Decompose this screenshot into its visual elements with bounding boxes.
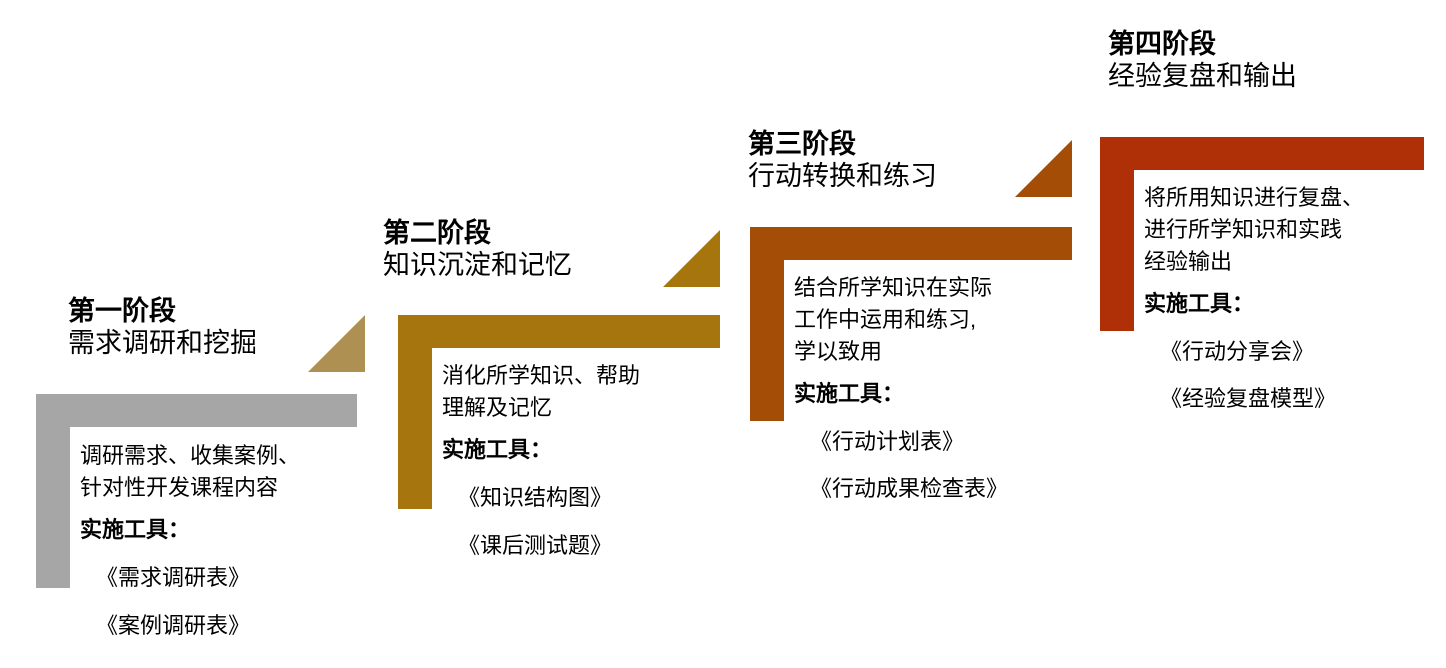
stage-1-body: 调研需求、收集案例、 针对性开发课程内容 实施工具： 《需求调研表》 《案例调研… xyxy=(80,440,300,641)
stage-2-heading-line1: 第二阶段 xyxy=(383,218,572,250)
stage-3-heading: 第三阶段 行动转换和练习 xyxy=(748,129,937,193)
stage-1-tools-label: 实施工具： xyxy=(80,514,300,546)
stage-3-heading-line1: 第三阶段 xyxy=(748,129,937,161)
stage-2-body: 消化所学知识、帮助 理解及记忆 实施工具： 《知识结构图》 《课后测试题》 xyxy=(442,360,640,561)
stage-3-tools-label: 实施工具： xyxy=(794,378,1008,410)
stage-3-desc-line-1: 结合所学知识在实际 xyxy=(794,272,1008,304)
stage-4-bracket-left xyxy=(1100,137,1134,331)
stage-4-bracket-top xyxy=(1100,137,1424,170)
stage-4-tool-item-2: 《经验复盘模型》 xyxy=(1144,383,1364,415)
stage-3-bracket-left xyxy=(750,227,784,421)
stage-3-tool-item-2: 《行动成果检查表》 xyxy=(794,473,1008,505)
stage-4-desc-line-2: 进行所学知识和实践 xyxy=(1144,214,1364,246)
stage-2-heading: 第二阶段 知识沉淀和记忆 xyxy=(383,218,572,282)
stage-1-desc-line-2: 针对性开发课程内容 xyxy=(80,472,300,504)
stage-2-bracket-top xyxy=(398,315,720,348)
stage-4-desc-line-1: 将所用知识进行复盘、 xyxy=(1144,182,1364,214)
stage-3-desc-line-2: 工作中运用和练习, xyxy=(794,304,1008,336)
stage-2-arrow-triangle-icon xyxy=(663,230,720,287)
stage-1-arrow-triangle-icon xyxy=(308,315,365,372)
stage-1-heading-line1: 第一阶段 xyxy=(68,296,257,328)
stage-4-tool-item-1: 《行动分享会》 xyxy=(1144,336,1364,368)
stage-1-tool-item-1: 《需求调研表》 xyxy=(80,562,300,594)
stage-2-heading-line2: 知识沉淀和记忆 xyxy=(383,250,572,282)
stage-2-bracket-left xyxy=(398,315,432,509)
stage-4-heading-line1: 第四阶段 xyxy=(1108,29,1297,61)
stage-1-tool-item-2: 《案例调研表》 xyxy=(80,610,300,642)
stage-3-body: 结合所学知识在实际 工作中运用和练习, 学以致用 实施工具： 《行动计划表》 《… xyxy=(794,272,1008,505)
stage-3-heading-line2: 行动转换和练习 xyxy=(748,161,937,193)
stage-1-heading-line2: 需求调研和挖掘 xyxy=(68,328,257,360)
stage-3-tool-item-1: 《行动计划表》 xyxy=(794,426,1008,458)
stage-4-body: 将所用知识进行复盘、 进行所学知识和实践 经验输出 实施工具： 《行动分享会》 … xyxy=(1144,182,1364,415)
stage-3-arrow-triangle-icon xyxy=(1015,140,1072,197)
stage-4-heading: 第四阶段 经验复盘和输出 xyxy=(1108,29,1297,93)
stage-1-desc-line-1: 调研需求、收集案例、 xyxy=(80,440,300,472)
stage-3-bracket-top xyxy=(750,227,1072,260)
stage-1-heading: 第一阶段 需求调研和挖掘 xyxy=(68,296,257,360)
stage-2-tool-item-1: 《知识结构图》 xyxy=(442,482,640,514)
stage-2-tools-label: 实施工具： xyxy=(442,434,640,466)
stage-2-tool-item-2: 《课后测试题》 xyxy=(442,530,640,562)
stage-2-desc-line-1: 消化所学知识、帮助 xyxy=(442,360,640,392)
stage-4-tools-label: 实施工具： xyxy=(1144,288,1364,320)
stage-1-bracket-left xyxy=(36,394,70,588)
stage-2-desc-line-2: 理解及记忆 xyxy=(442,392,640,424)
stage-4-heading-line2: 经验复盘和输出 xyxy=(1108,61,1297,93)
stage-1-bracket-top xyxy=(36,394,357,427)
stage-3-desc-line-3: 学以致用 xyxy=(794,336,1008,368)
stage-4-desc-line-3: 经验输出 xyxy=(1144,246,1364,278)
